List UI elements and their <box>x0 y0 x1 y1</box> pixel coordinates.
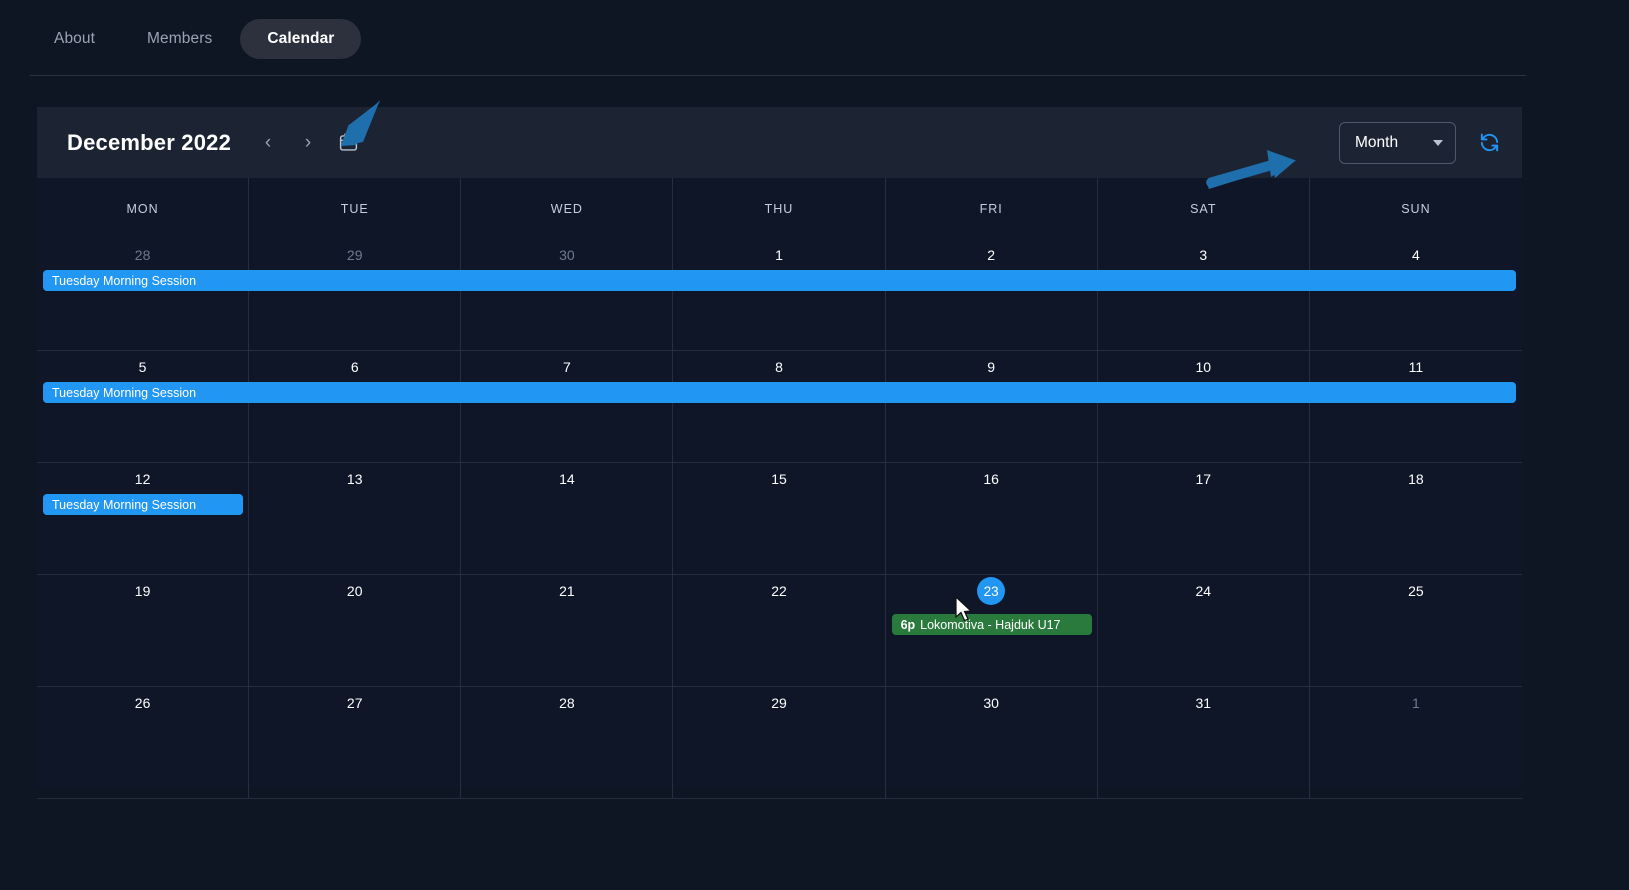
day-number[interactable]: 21 <box>461 583 672 599</box>
day-cell[interactable]: 9 <box>886 351 1098 463</box>
weekday-header-sun: SUN <box>1310 178 1522 239</box>
day-cell[interactable]: 8 <box>673 351 885 463</box>
event-title: Lokomotiva - Hajduk U17 <box>920 618 1060 632</box>
calendar-month-title: December 2022 <box>67 130 231 156</box>
day-number[interactable]: 29 <box>249 247 460 263</box>
day-cell[interactable]: 28 <box>37 239 249 351</box>
day-number[interactable]: 13 <box>249 471 460 487</box>
calendar-widget: December 2022 ‹ › <box>37 107 1522 787</box>
app-root: About Members Calendar December 2022 ‹ › <box>0 0 1629 890</box>
tab-members[interactable]: Members <box>123 19 236 59</box>
day-cell[interactable]: 28 <box>461 687 673 799</box>
day-cell[interactable]: 3 <box>1098 239 1310 351</box>
previous-month-button[interactable]: ‹ <box>253 128 283 158</box>
day-cell[interactable]: 26 <box>37 687 249 799</box>
day-number[interactable]: 5 <box>37 359 248 375</box>
day-number[interactable]: 25 <box>1310 583 1522 599</box>
calendar-event[interactable]: Tuesday Morning Session <box>43 382 1516 403</box>
day-cell[interactable]: 13 <box>249 463 461 575</box>
day-cell[interactable]: 30 <box>461 239 673 351</box>
calendar-toolbar-right: Month <box>1339 122 1522 164</box>
weekday-header-mon: MON <box>37 178 249 239</box>
weekday-header-tue: TUE <box>249 178 461 239</box>
day-number[interactable]: 28 <box>37 247 248 263</box>
day-cell[interactable]: 17 <box>1098 463 1310 575</box>
day-number[interactable]: 30 <box>886 695 1097 711</box>
weekday-label: SAT <box>1190 202 1216 216</box>
day-cell[interactable]: 29 <box>673 687 885 799</box>
day-number[interactable]: 1 <box>1310 695 1522 711</box>
today-calendar-button[interactable] <box>333 128 363 158</box>
weekday-header-thu: THU <box>673 178 885 239</box>
day-cell[interactable]: 24 <box>1098 575 1310 687</box>
day-number[interactable]: 6 <box>249 359 460 375</box>
tab-calendar[interactable]: Calendar <box>240 19 361 59</box>
day-number[interactable]: 17 <box>1098 471 1309 487</box>
sync-refresh-button[interactable] <box>1474 128 1504 158</box>
day-cell[interactable]: 6 <box>249 351 461 463</box>
day-number[interactable]: 27 <box>249 695 460 711</box>
day-number[interactable]: 26 <box>37 695 248 711</box>
event-title: Tuesday Morning Session <box>52 274 196 288</box>
day-number[interactable]: 7 <box>461 359 672 375</box>
calendar-event[interactable]: Tuesday Morning Session <box>43 494 243 515</box>
primary-tabs: About Members Calendar <box>0 2 1566 76</box>
day-number[interactable]: 10 <box>1098 359 1309 375</box>
day-cell[interactable]: 14 <box>461 463 673 575</box>
day-cell[interactable]: 4 <box>1310 239 1522 351</box>
day-number[interactable]: 14 <box>461 471 672 487</box>
day-cell[interactable]: 10 <box>1098 351 1310 463</box>
day-number[interactable]: 15 <box>673 471 884 487</box>
day-cell[interactable]: 20 <box>249 575 461 687</box>
calendar-nav-group: ‹ › <box>253 128 363 158</box>
day-cell[interactable]: 5 <box>37 351 249 463</box>
day-cell[interactable]: 27 <box>249 687 461 799</box>
day-number[interactable]: 30 <box>461 247 672 263</box>
event-title: Tuesday Morning Session <box>52 386 196 400</box>
day-cell[interactable]: 2 <box>886 239 1098 351</box>
day-number[interactable]: 31 <box>1098 695 1309 711</box>
refresh-icon <box>1478 131 1501 154</box>
day-cell[interactable]: 16 <box>886 463 1098 575</box>
today-day-number[interactable]: 23 <box>977 577 1005 605</box>
day-number[interactable]: 29 <box>673 695 884 711</box>
day-number[interactable]: 8 <box>673 359 884 375</box>
weekday-label: WED <box>551 202 583 216</box>
weekday-header-fri: FRI <box>886 178 1098 239</box>
day-cell[interactable]: 30 <box>886 687 1098 799</box>
day-cell[interactable]: 18 <box>1310 463 1522 575</box>
chevron-right-icon: › <box>305 133 311 152</box>
day-number[interactable]: 24 <box>1098 583 1309 599</box>
day-cell[interactable]: 1 <box>673 239 885 351</box>
day-number[interactable]: 19 <box>37 583 248 599</box>
day-number[interactable]: 2 <box>886 247 1097 263</box>
day-number[interactable]: 22 <box>673 583 884 599</box>
calendar-event[interactable]: Tuesday Morning Session <box>43 270 1516 291</box>
day-cell[interactable]: 25 <box>1310 575 1522 687</box>
day-cell[interactable]: 11 <box>1310 351 1522 463</box>
day-number[interactable]: 18 <box>1310 471 1522 487</box>
calendar-toolbar: December 2022 ‹ › <box>37 107 1522 178</box>
day-cell[interactable]: 15 <box>673 463 885 575</box>
weekday-header-wed: WED <box>461 178 673 239</box>
weekday-label: TUE <box>341 202 369 216</box>
view-mode-select[interactable]: Month <box>1339 122 1456 164</box>
weekday-label: FRI <box>980 202 1003 216</box>
chevron-down-icon <box>1433 140 1443 146</box>
day-number[interactable]: 9 <box>886 359 1097 375</box>
day-cell[interactable]: 12 <box>37 463 249 575</box>
day-number[interactable]: 12 <box>37 471 248 487</box>
weekday-label: THU <box>765 202 794 216</box>
day-number[interactable]: 28 <box>461 695 672 711</box>
day-cell[interactable]: 1 <box>1310 687 1522 799</box>
tab-about[interactable]: About <box>30 19 119 59</box>
day-cell[interactable]: 22 <box>673 575 885 687</box>
day-cell[interactable]: 31 <box>1098 687 1310 799</box>
next-month-button[interactable]: › <box>293 128 323 158</box>
event-title: Tuesday Morning Session <box>52 498 196 512</box>
event-time: 6p <box>901 618 916 632</box>
day-cell[interactable]: 21 <box>461 575 673 687</box>
weekday-header-sat: SAT <box>1098 178 1310 239</box>
day-cell[interactable]: 29 <box>249 239 461 351</box>
day-number[interactable]: 20 <box>249 583 460 599</box>
day-cell[interactable]: 19 <box>37 575 249 687</box>
day-cell[interactable]: 7 <box>461 351 673 463</box>
calendar-icon <box>338 132 359 153</box>
chevron-left-icon: ‹ <box>265 133 271 152</box>
weekday-label: MON <box>126 202 158 216</box>
day-number[interactable]: 3 <box>1098 247 1309 263</box>
calendar-grid: MON TUE WED THU FRI SAT SUN 282930123456… <box>37 178 1522 799</box>
calendar-event[interactable]: 6pLokomotiva - Hajduk U17 <box>892 614 1092 635</box>
day-number[interactable]: 1 <box>673 247 884 263</box>
weekday-label: SUN <box>1401 202 1430 216</box>
day-number[interactable]: 16 <box>886 471 1097 487</box>
day-number[interactable]: 11 <box>1310 359 1522 375</box>
view-mode-value: Month <box>1355 134 1398 152</box>
day-number[interactable]: 4 <box>1310 247 1522 263</box>
